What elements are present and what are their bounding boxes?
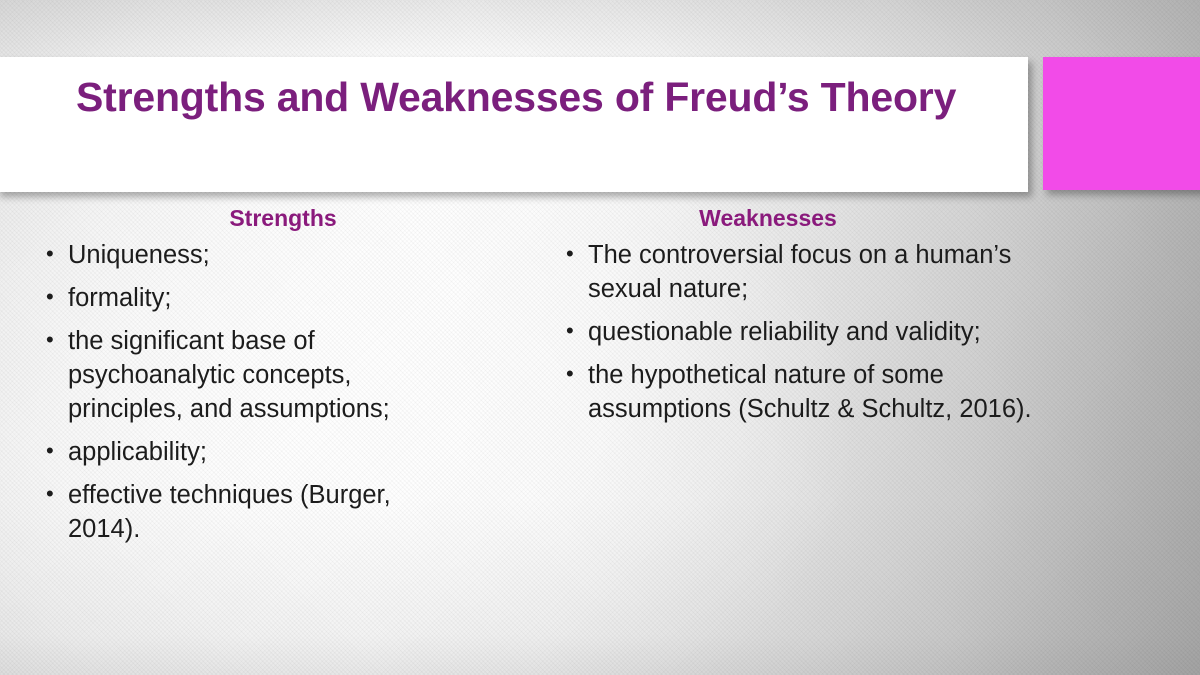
page-title: Strengths and Weaknesses of Freud’s Theo… <box>76 71 1006 123</box>
list-item: formality; <box>38 281 468 315</box>
list-item: Uniqueness; <box>38 238 468 272</box>
presentation-slide: Strengths and Weaknesses of Freud’s Theo… <box>0 0 1200 675</box>
accent-block <box>1043 57 1200 190</box>
strengths-list: Uniqueness; formality; the significant b… <box>38 238 518 546</box>
weaknesses-list: The controversial focus on a human’s sex… <box>558 238 1058 426</box>
list-item: questionable reliability and validity; <box>558 315 1038 349</box>
list-item: applicability; <box>38 435 468 469</box>
list-item: effective techniques (Burger, 2014). <box>38 478 468 546</box>
list-item: the hypothetical nature of some assumpti… <box>558 358 1038 426</box>
title-band: Strengths and Weaknesses of Freud’s Theo… <box>0 57 1028 192</box>
weaknesses-column: Weaknesses The controversial focus on a … <box>558 205 1058 435</box>
strengths-heading: Strengths <box>38 205 518 232</box>
strengths-column: Strengths Uniqueness; formality; the sig… <box>38 205 518 555</box>
list-item: the significant base of psychoanalytic c… <box>38 324 468 426</box>
list-item: The controversial focus on a human’s sex… <box>558 238 1038 306</box>
weaknesses-heading: Weaknesses <box>558 205 1058 232</box>
slide-content: Strengths Uniqueness; formality; the sig… <box>0 205 1200 675</box>
